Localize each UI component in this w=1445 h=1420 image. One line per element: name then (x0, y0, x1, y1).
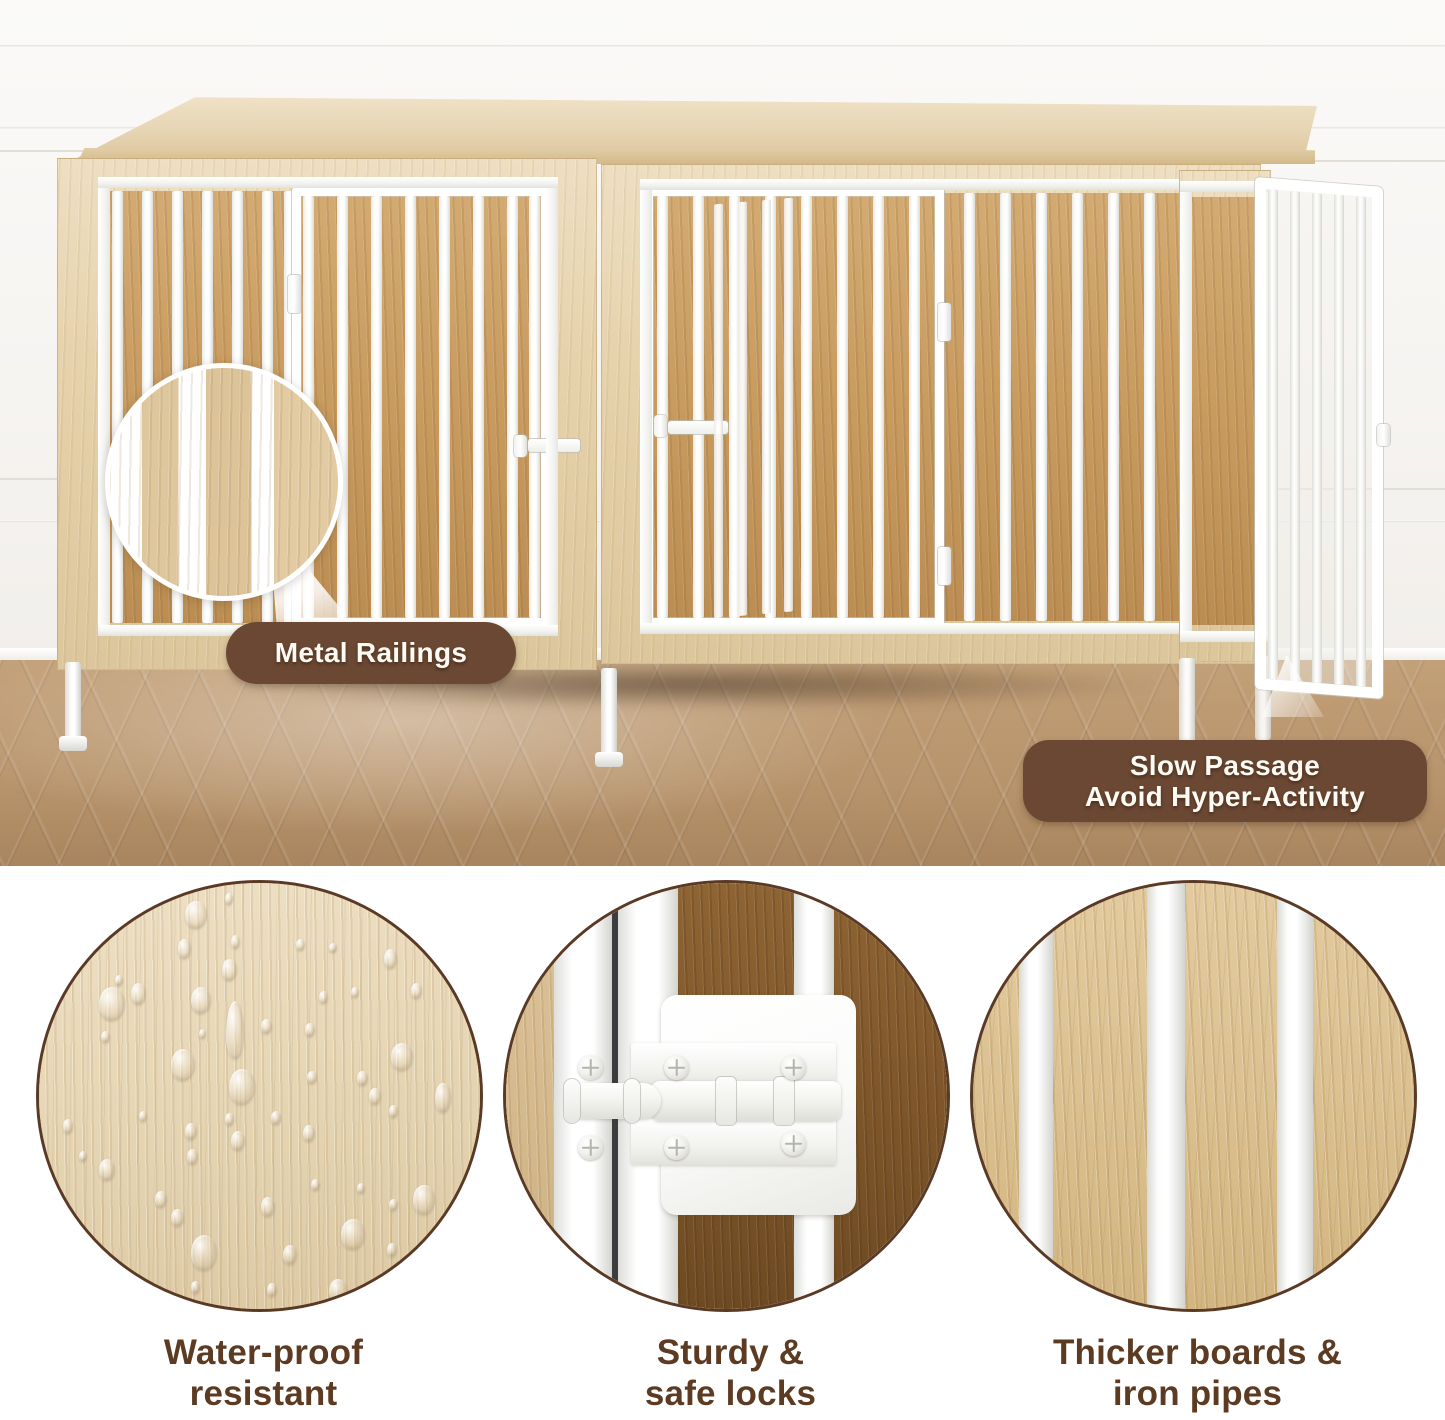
crate-door-right[interactable] (644, 187, 944, 627)
product-hero-image: Metal Railings Slow Passage Avoid Hyper-… (0, 0, 1445, 866)
crate-door-open-right[interactable] (1255, 177, 1383, 699)
lock-scene (506, 883, 947, 1309)
frame-post (98, 183, 110, 631)
wood-grain-texture (110, 368, 338, 596)
door-latch-knob-left[interactable] (514, 435, 527, 457)
crate-leg (601, 668, 617, 756)
water-droplets-on-wood-icon (36, 880, 483, 1312)
frame-rail (640, 179, 1224, 190)
lock-keeper-collar (564, 1079, 580, 1123)
frame-post (1180, 187, 1192, 639)
feature-caption-line1: Thicker boards & (970, 1332, 1425, 1373)
lock-collar (716, 1077, 736, 1125)
crate-right-cabinet (601, 164, 1261, 664)
wood-surface-texture (39, 883, 480, 1309)
feature-caption: Sturdy & safe locks (503, 1332, 958, 1415)
feature-caption-line2: safe locks (503, 1373, 958, 1414)
feature-thicker-boards: Thicker boards & iron pipes (970, 880, 1425, 1312)
feature-caption-line1: Water-proof (36, 1332, 491, 1373)
lock-screw (578, 1135, 603, 1160)
lock-screw (578, 1055, 603, 1080)
feature-safe-locks: Sturdy & safe locks (503, 880, 958, 1312)
wall-molding-line (0, 44, 1445, 47)
feature-caption: Thicker boards & iron pipes (970, 1332, 1425, 1415)
crate-leg (65, 662, 81, 740)
interior-divider-gate[interactable] (710, 197, 794, 618)
callout-slow-passage-line2: Avoid Hyper-Activity (1085, 781, 1365, 812)
callout-metal-railings: Metal Railings (226, 622, 516, 684)
callout-slow-passage: Slow Passage Avoid Hyper-Activity (1023, 740, 1427, 822)
feature-caption: Water-proof resistant (36, 1332, 491, 1415)
frame-rail (98, 177, 558, 188)
slide-bolt-lock-icon (503, 880, 950, 1312)
door-hinge (938, 547, 951, 585)
lock-screw (781, 1055, 806, 1080)
lock-screw (664, 1055, 689, 1080)
feature-water-proof: Water-proof resistant (36, 880, 491, 1312)
pipes-scene (973, 883, 1414, 1309)
feature-caption-line2: iron pipes (970, 1373, 1425, 1414)
frame-post (640, 183, 652, 631)
feature-highlights-strip: Water-proof resistant (0, 866, 1445, 1420)
door-hinge (288, 275, 301, 313)
frame-rail (640, 623, 1224, 634)
railing-zoom-circle (105, 363, 343, 601)
crate-foot (595, 752, 623, 767)
lock-collar (774, 1077, 794, 1125)
door-hinge (938, 303, 951, 341)
frame-post (546, 183, 558, 631)
lock-screw (664, 1135, 689, 1160)
feature-caption-line1: Sturdy & (503, 1332, 958, 1373)
crate-foot (59, 736, 87, 751)
lock-bolt-barrel[interactable] (651, 1081, 841, 1121)
door-latch-knob-right[interactable] (654, 415, 667, 437)
open-door-latch-knob[interactable] (1377, 424, 1390, 446)
feature-caption-line2: resistant (36, 1373, 491, 1414)
lock-keeper-collar (624, 1079, 640, 1123)
lock-bolt-keeper (566, 1083, 661, 1119)
lock-screw (781, 1131, 806, 1156)
boards-and-iron-pipes-icon (970, 880, 1417, 1312)
crate-leg (1179, 658, 1195, 744)
callout-slow-passage-line1: Slow Passage (1085, 750, 1365, 781)
